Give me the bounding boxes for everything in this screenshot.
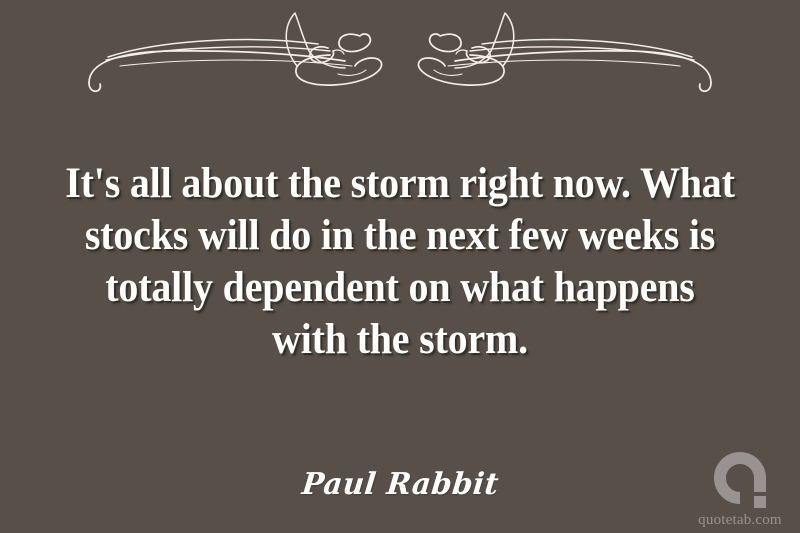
- author-attribution: Paul Rabbit: [0, 466, 800, 504]
- watermark[interactable]: quotetab.com: [688, 449, 792, 529]
- quote-line: It's all about the storm right now. What: [28, 158, 772, 210]
- quote-image-card: It's all about the storm right now. What…: [0, 0, 800, 533]
- quote-line: stocks will do in the next few weeks is: [28, 210, 772, 262]
- quotetab-logo-icon: [709, 449, 771, 511]
- watermark-site-label: quotetab.com: [688, 512, 792, 529]
- quote-line: totally dependent on what happens: [28, 262, 772, 314]
- quote-line: with the storm.: [28, 314, 772, 366]
- decorative-flourish-ornament: [0, 4, 800, 99]
- author-name[interactable]: Paul Rabbit: [300, 466, 501, 504]
- quote-text: It's all about the storm right now. What…: [0, 158, 800, 366]
